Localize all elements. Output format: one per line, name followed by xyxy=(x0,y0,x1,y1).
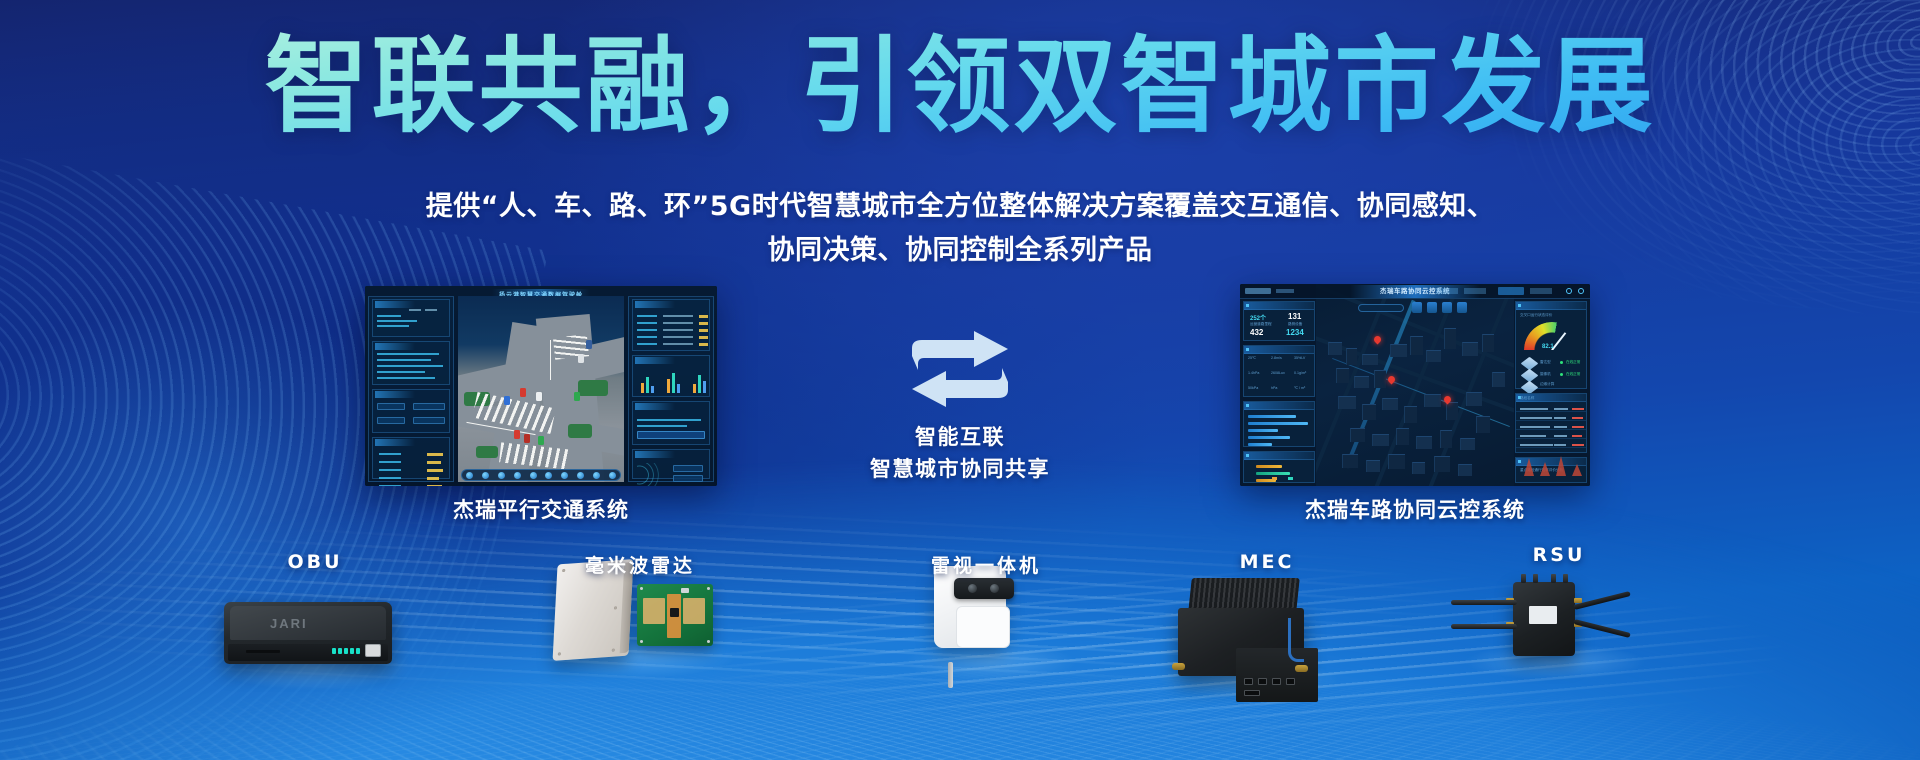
env-item-3: 1.4hPa xyxy=(1248,371,1259,375)
rsu-top-connector-0 xyxy=(1521,574,1526,583)
gauge-value: 82.1 xyxy=(1542,344,1554,350)
toolbar-icon-network[interactable] xyxy=(561,472,568,479)
product-label-rsu: RSU xyxy=(1429,544,1689,566)
center-caption: 智能互联 智慧城市协同共享 xyxy=(760,422,1160,485)
radar-pcb-board xyxy=(637,584,713,646)
banner-headline: 智联共融，引领双智城市发展 xyxy=(0,28,1920,144)
product-radar[interactable] xyxy=(555,562,725,672)
rsu-antenna-right-bottom xyxy=(1573,619,1630,638)
env-item-8: ℃ / m³ xyxy=(1294,386,1305,390)
asset-status-dot-1 xyxy=(1560,373,1563,376)
left-dashboard-toolbar[interactable] xyxy=(461,469,621,481)
promotional-banner: 智联共融，引领双智城市发展 提供“人、车、路、环”5G时代智慧城市全方位整体解决… xyxy=(0,0,1920,760)
env-item-6: 50kPa xyxy=(1248,386,1258,390)
mec-antenna-connector-left xyxy=(1172,663,1185,670)
product-label-obu: OBU xyxy=(185,551,445,573)
stat-value-1: 131 xyxy=(1288,312,1301,321)
rsu-top-connector-3 xyxy=(1563,574,1568,583)
camera-pole-stem xyxy=(948,662,953,688)
subtitle-line-1: 提供“人、车、路、环”5G时代智慧城市全方位整体解决方案覆盖交互通信、协同感知、 xyxy=(0,185,1920,229)
city-3d-map xyxy=(1316,284,1514,486)
subtitle-line-2: 协同决策、协同控制全系列产品 xyxy=(0,229,1920,273)
obu-device-body: JARI xyxy=(224,602,392,664)
asset-name-0: 雷达型 xyxy=(1540,360,1551,365)
left-dashboard-left-panel xyxy=(368,296,454,482)
table-row xyxy=(1516,442,1586,448)
asset-status-dot-0 xyxy=(1560,361,1563,364)
obu-led-4 xyxy=(356,648,360,654)
stat-value-3: 1234 xyxy=(1286,328,1304,337)
mec-antenna-connector-right xyxy=(1295,665,1308,672)
table-row xyxy=(1516,433,1586,439)
product-obu[interactable]: JARI xyxy=(224,576,404,686)
rsu-antenna-left-bottom xyxy=(1451,624,1517,629)
map-search-input[interactable] xyxy=(1358,304,1404,312)
filter-icon-vehicle[interactable] xyxy=(1427,302,1437,313)
asset-name-1: 摄像机 xyxy=(1540,372,1551,377)
mec-lan-port xyxy=(1286,678,1295,685)
env-item-0: 25℃ xyxy=(1248,356,1256,360)
table-panel-header: 路段名称 xyxy=(1520,396,1534,401)
filter-icon-road[interactable] xyxy=(1442,302,1452,313)
mec-io-face xyxy=(1236,648,1318,702)
toolbar-icon-camera[interactable] xyxy=(530,472,537,479)
camera-glow xyxy=(906,642,1076,682)
filter-icon-cloud[interactable] xyxy=(1457,302,1467,313)
dashboard-screenshot-parallel-traffic[interactable]: 扬云港智慧交通数据驾驶舱 xyxy=(365,286,717,486)
env-item-1: 2.8m/s xyxy=(1271,356,1282,360)
mec-usb-port-2 xyxy=(1272,678,1281,685)
obu-led-2 xyxy=(344,648,348,654)
camera-front-plate xyxy=(956,606,1010,648)
mec-cable-harness xyxy=(1288,618,1304,662)
dashboard-caption-left: 杰瑞平行交通系统 xyxy=(341,494,741,524)
toolbar-icon-layers[interactable] xyxy=(593,472,600,479)
camera-lens-left xyxy=(968,584,977,593)
obu-device-top xyxy=(230,606,386,640)
camera-radar-body xyxy=(934,566,1006,648)
obu-ethernet-port xyxy=(365,644,381,657)
product-rsu[interactable] xyxy=(1455,572,1655,672)
toolbar-icon-more[interactable] xyxy=(609,472,616,479)
obu-card-slot xyxy=(246,650,280,653)
camera-lens-right xyxy=(990,584,999,593)
rsu-nameplate xyxy=(1529,606,1557,624)
asset-status-0: 在线正常 xyxy=(1566,360,1580,365)
toolbar-icon-signal[interactable] xyxy=(498,472,505,479)
table-row xyxy=(1516,415,1586,421)
obu-led-1 xyxy=(338,648,342,654)
mec-usb-port-0 xyxy=(1244,678,1253,685)
product-label-mec: MEC xyxy=(1137,551,1397,573)
right-dashboard-title: 杰瑞车路协同云控系统 xyxy=(1350,285,1480,298)
center-caption-line-2: 智慧城市协同共享 xyxy=(760,454,1160,486)
right-dashboard-left-panel: 252个 运营道路里程 131 路侧设备 432 1234 25℃ 2.8m/s… xyxy=(1243,301,1315,483)
traffic-intersection-3d-scene xyxy=(458,296,624,482)
obu-front-panel xyxy=(228,644,388,661)
stat-label-1: 路侧设备 xyxy=(1288,322,1302,327)
env-item-5: 0.1g/m³ xyxy=(1294,371,1306,375)
env-item-4: 2608Lux xyxy=(1271,371,1285,375)
product-label-radar: 毫米波雷达 xyxy=(510,551,770,578)
banner-subtitle: 提供“人、车、路、环”5G时代智慧城市全方位整体解决方案覆盖交互通信、协同感知、… xyxy=(0,185,1920,272)
camera-lens-bar xyxy=(954,578,1014,599)
rsu-top-connector-2 xyxy=(1551,574,1556,583)
gauge-panel-header: 交叉口运行状态评价 xyxy=(1520,313,1552,318)
toolbar-icon-radar[interactable] xyxy=(545,472,552,479)
dashboard-screenshot-cloud-control[interactable]: 杰瑞车路协同云控系统 252个 运营道路里程 131 路侧设备 xyxy=(1240,284,1590,486)
toolbar-icon-bus[interactable] xyxy=(482,472,489,479)
toolbar-icon-vehicle[interactable] xyxy=(466,472,473,479)
table-row xyxy=(1516,406,1586,412)
product-mec[interactable] xyxy=(1162,578,1332,688)
mec-hdmi-port xyxy=(1244,690,1260,696)
rsu-top-connector-1 xyxy=(1533,574,1538,583)
asset-status-1: 在线正常 xyxy=(1566,372,1580,377)
left-dashboard-right-panel xyxy=(628,296,714,482)
toolbar-icon-alert[interactable] xyxy=(577,472,584,479)
product-label-camera: 雷视一体机 xyxy=(856,551,1116,578)
stat-value-2: 432 xyxy=(1250,328,1263,337)
env-item-2: 35%LV xyxy=(1294,356,1305,360)
bidirectional-exchange-arrows-icon xyxy=(904,330,1016,408)
mec-usb-port-1 xyxy=(1258,678,1267,685)
dashboard-caption-right: 杰瑞车路协同云控系统 xyxy=(1215,494,1615,524)
asset-name-2: 边缘计算 xyxy=(1540,382,1554,387)
map-filter-icon-row[interactable] xyxy=(1412,302,1467,313)
table-row xyxy=(1516,424,1586,430)
center-caption-line-1: 智能互联 xyxy=(760,422,1160,454)
obu-led-0 xyxy=(332,648,336,654)
rsu-antenna-left-top xyxy=(1451,600,1517,605)
obu-led-3 xyxy=(350,648,354,654)
right-dashboard-right-panel: 交叉口运行状态评价 82.1 雷达型 在线正常 摄像机 在线正常 边缘计算 路段… xyxy=(1515,301,1587,483)
center-exchange-block: 智能互联 智慧城市协同共享 xyxy=(760,330,1160,485)
toolbar-icon-pedestrian[interactable] xyxy=(514,472,521,479)
right-dashboard-topbar: 杰瑞车路协同云控系统 xyxy=(1240,284,1590,299)
stat-value-0: 252个 xyxy=(1250,313,1266,322)
mec-heatsink-fins xyxy=(1188,578,1300,612)
filter-icon-people[interactable] xyxy=(1412,302,1422,313)
env-item-7: hPa xyxy=(1271,386,1277,390)
stat-label-0: 运营道路里程 xyxy=(1250,322,1272,327)
rsu-enclosure xyxy=(1513,582,1575,656)
mec-chassis xyxy=(1178,608,1304,676)
obu-brand-logo: JARI xyxy=(270,616,308,631)
